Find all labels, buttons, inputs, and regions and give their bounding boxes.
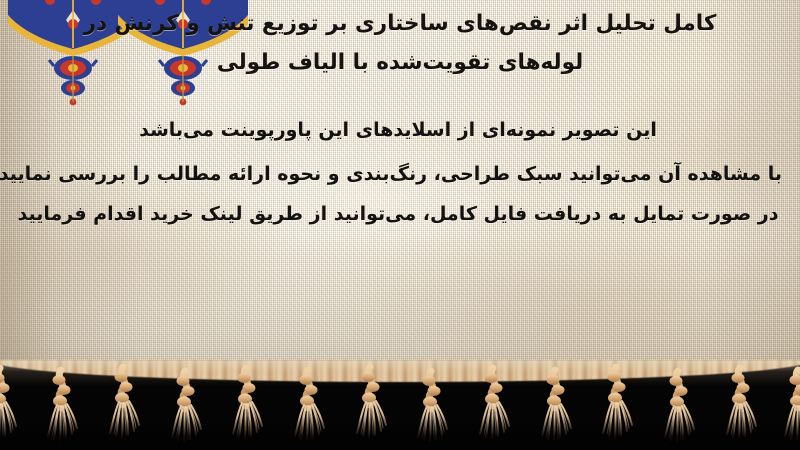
slide-body: این تصویر نمونه‌ای از اسلایدهای این پاور… bbox=[14, 110, 782, 234]
slide-canvas: کامل تحلیل اثر نقص‌های ساختاری بر توزیع … bbox=[0, 0, 800, 450]
slide-body-line-1: این تصویر نمونه‌ای از اسلایدهای این پاور… bbox=[14, 110, 782, 150]
slide-title-line-1: کامل تحلیل اثر نقص‌های ساختاری بر توزیع … bbox=[14, 4, 786, 43]
carpet-fringe-band bbox=[0, 360, 800, 450]
slide-title-line-2: لوله‌های تقویت‌شده با الیاف طولی bbox=[14, 43, 786, 82]
slide-body-line-2: با مشاهده آن می‌توانید سبک طراحی، رنگ‌بن… bbox=[14, 154, 782, 194]
fringe-shadow-floor bbox=[0, 416, 800, 450]
slide-title: کامل تحلیل اثر نقص‌های ساختاری بر توزیع … bbox=[14, 4, 786, 82]
slide-body-line-3: در صورت تمایل به دریافت فایل کامل، می‌تو… bbox=[14, 194, 782, 234]
slide-text-layer: کامل تحلیل اثر نقص‌های ساختاری بر توزیع … bbox=[0, 0, 800, 378]
